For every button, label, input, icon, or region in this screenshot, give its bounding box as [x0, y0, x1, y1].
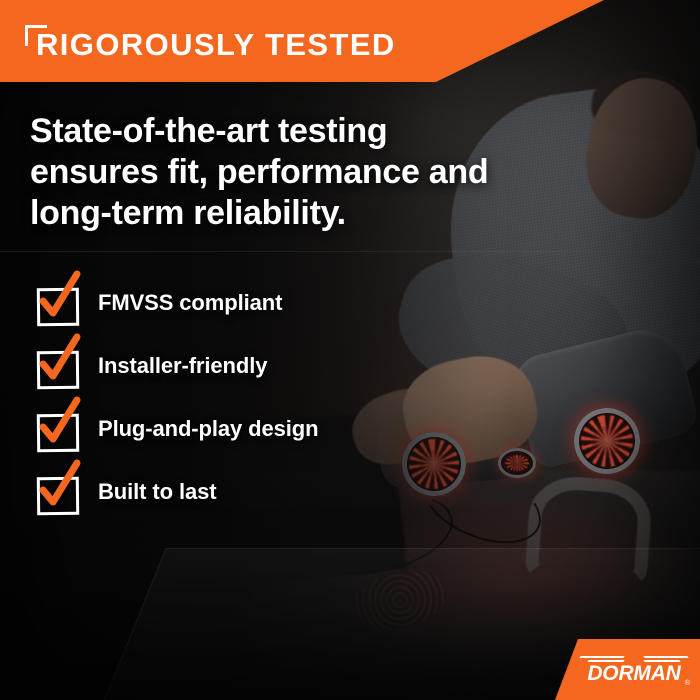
feature-checklist: FMVSS compliant Installer-friendly Plug-…	[36, 281, 456, 533]
orange-checkmark-icon	[33, 397, 85, 451]
list-item-label: Built to last	[98, 479, 216, 505]
orange-checkmark-icon	[33, 271, 85, 325]
logo-wing-right	[643, 656, 688, 658]
promo-graphic: RIGOROUSLY TESTED State-of-the-art testi…	[0, 0, 700, 700]
list-item: Built to last	[36, 470, 456, 514]
checkbox-checked	[36, 348, 76, 384]
orange-checkmark-icon	[33, 460, 85, 514]
brand-wordmark: DORMAN	[578, 663, 690, 684]
list-item: Plug-and-play design	[36, 407, 456, 451]
list-item-label: FMVSS compliant	[98, 290, 282, 316]
checkbox-checked	[36, 411, 76, 447]
headline-text: State-of-the-art testing ensures fit, pe…	[30, 111, 510, 234]
checkbox-checked	[36, 285, 76, 321]
registered-trademark-icon: ®	[685, 680, 690, 687]
orange-checkmark-icon	[33, 334, 85, 388]
checkbox-checked	[36, 474, 76, 510]
list-item: Installer-friendly	[36, 344, 456, 388]
list-item: FMVSS compliant	[36, 281, 456, 325]
dorman-logo: DORMAN ®	[578, 652, 690, 688]
list-item-label: Plug-and-play design	[98, 416, 318, 442]
page-title: RIGOROUSLY TESTED	[36, 29, 396, 62]
list-item-label: Installer-friendly	[98, 353, 267, 379]
logo-wing-left	[579, 656, 624, 658]
section-divider	[0, 251, 700, 252]
